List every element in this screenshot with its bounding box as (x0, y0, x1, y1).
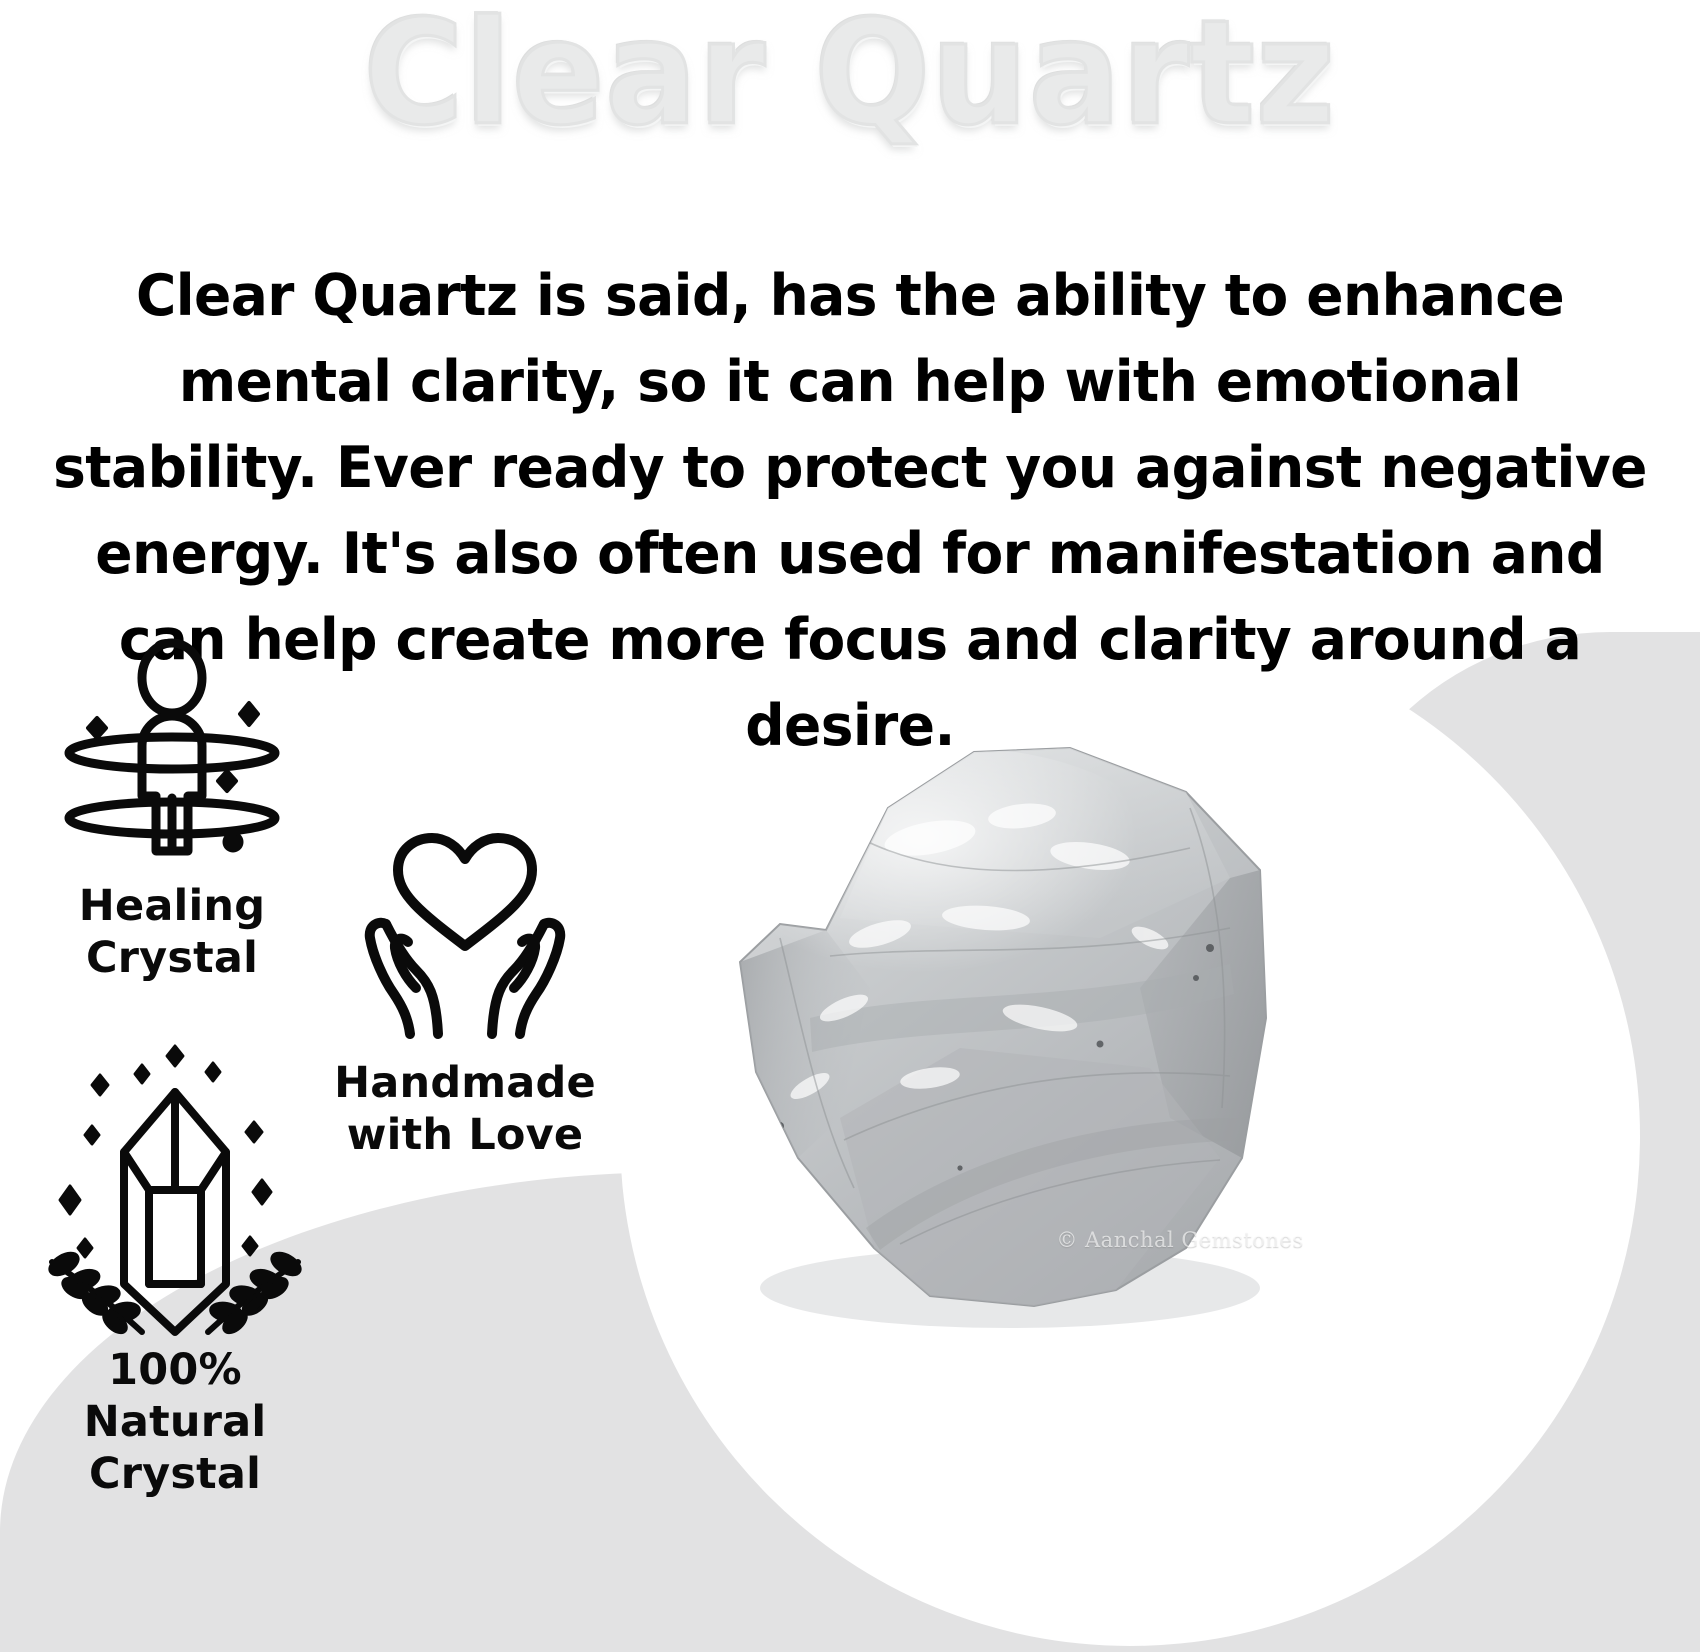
badge-healing-crystal: Healing Crystal (22, 636, 322, 984)
badge-natural-crystal: 100% Natural Crystal (0, 1040, 350, 1500)
hands-holding-heart-icon (300, 828, 630, 1057)
product-image-clear-quartz: © Aanchal Gemstones (630, 688, 1370, 1328)
badge-label-handmade-with-love: Handmade with Love (334, 1058, 596, 1160)
image-watermark: © Aanchal Gemstones (1030, 1228, 1330, 1252)
page-title: Clear Quartz (364, 0, 1336, 159)
meditating-figure-aura-icon (22, 636, 322, 880)
badge-label-natural-crystal: 100% Natural Crystal (84, 1345, 267, 1499)
page-title-container: Clear Quartz (0, 0, 1700, 154)
badge-label-healing-crystal: Healing Crystal (79, 881, 265, 983)
crystal-point-laurel-icon (0, 1040, 350, 1344)
infographic-page: Clear Quartz Clear Quartz is said, has t… (0, 0, 1700, 1652)
